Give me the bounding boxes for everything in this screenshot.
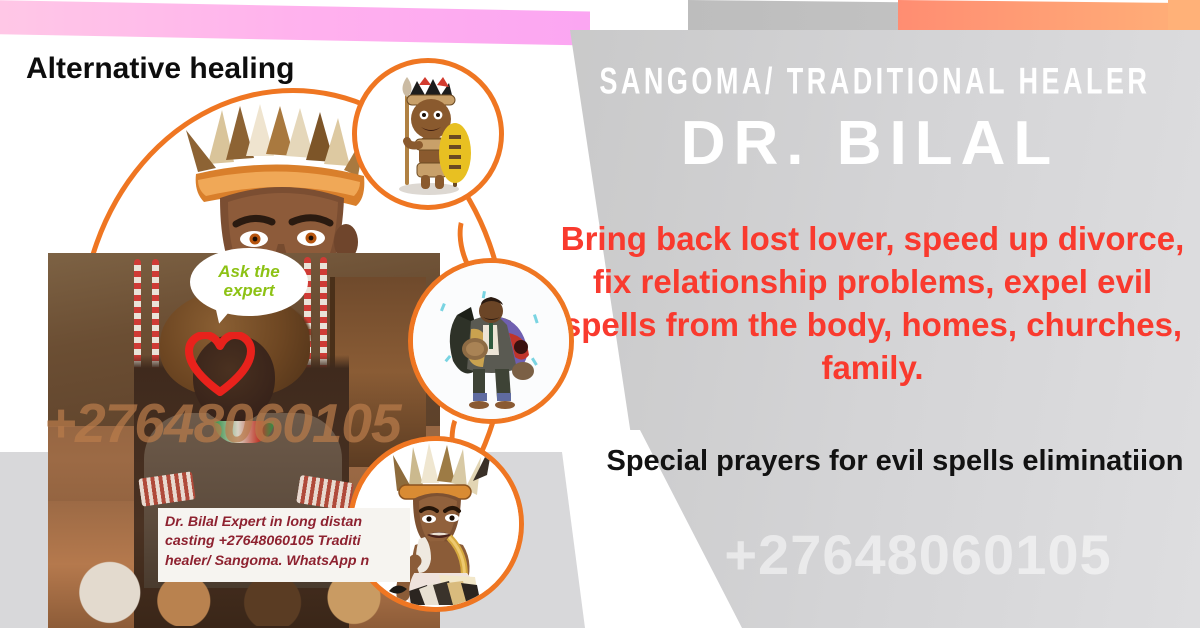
brand-name: DR. BILAL [540, 108, 1200, 179]
special-offer-text: Special prayers for evil spells eliminat… [595, 443, 1195, 481]
photo-caption-text: Dr. Bilal Expert in long distan casting … [165, 513, 403, 571]
heart-outline-icon [185, 332, 255, 396]
page-title: Alternative healing [26, 52, 294, 86]
phone-watermark: +27648060105 [628, 522, 1200, 587]
poster-canvas: Alternative healing [0, 0, 1200, 628]
top-band-pink [0, 0, 590, 46]
zulu-warrior-illustration [352, 58, 504, 210]
speech-bubble: Ask the expert [190, 248, 308, 316]
photo-caption-box: Dr. Bilal Expert in long distan casting … [158, 508, 410, 582]
kicker-heading: SANGOMA/ TRADITIONAL HEALER [599, 60, 1140, 103]
photo-phone-overlay: +27648060105 [44, 391, 444, 455]
right-content-column: SANGOMA/ TRADITIONAL HEALER DR. BILAL Br… [540, 0, 1200, 628]
services-text: Bring back lost lover, speed up divorce,… [560, 218, 1185, 390]
speech-bubble-text: Ask the expert [206, 263, 292, 300]
